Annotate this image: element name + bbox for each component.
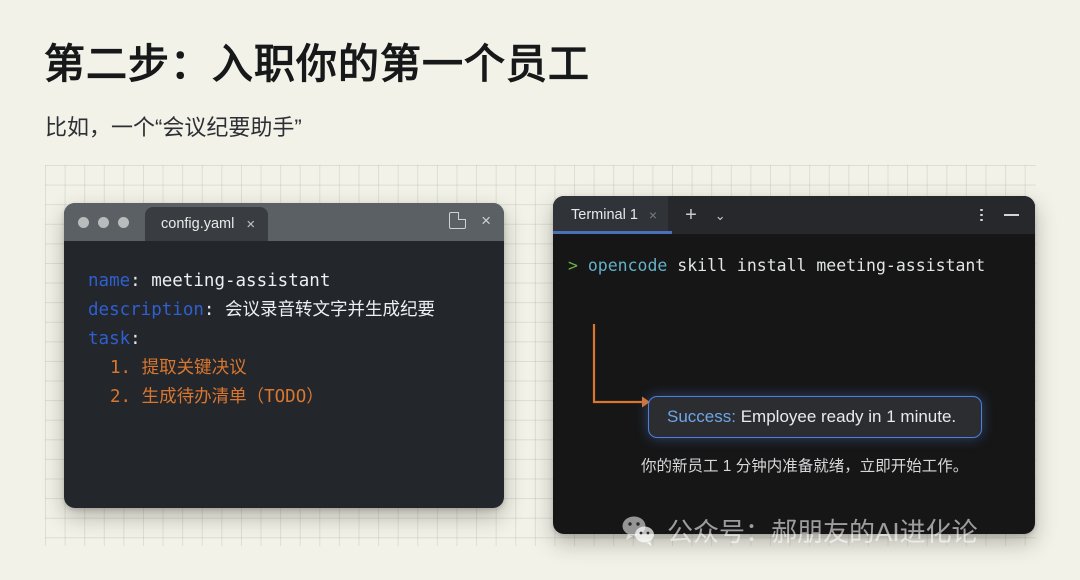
yaml-key: description xyxy=(88,300,204,320)
split-window-icon[interactable] xyxy=(449,212,466,229)
page-title: 第二步：入职你的第一个员工 xyxy=(44,30,590,90)
terminal-note-text: 你的新员工 1 分钟内准备就绪，立即开始工作。 xyxy=(641,454,968,476)
more-vertical-icon[interactable] xyxy=(980,209,983,222)
command-program: opencode xyxy=(588,256,667,275)
success-text: Success: Employee ready in 1 minute. xyxy=(667,407,956,427)
yaml-colon: : xyxy=(204,300,215,320)
yaml-value: meeting-assistant xyxy=(141,271,331,291)
yaml-colon: : xyxy=(130,271,141,291)
yaml-key: task xyxy=(88,329,130,349)
terminal-window: Terminal 1 × + ⌄ > opencode skill instal… xyxy=(553,196,1035,534)
editor-tab-config-yaml[interactable]: config.yaml × xyxy=(145,207,268,241)
code-line-task-item: 1. 提取关键决议 xyxy=(88,354,504,383)
prompt-caret-icon: > xyxy=(568,256,578,275)
success-callout-box: Success: Employee ready in 1 minute. xyxy=(648,396,982,438)
success-message: Employee ready in 1 minute. xyxy=(736,407,956,426)
editor-tab-label: config.yaml xyxy=(161,216,234,232)
minimize-dot-icon[interactable] xyxy=(98,217,109,228)
success-label: Success: xyxy=(667,407,736,426)
close-icon[interactable]: × xyxy=(246,217,255,232)
close-dot-icon[interactable] xyxy=(78,217,89,228)
terminal-output-area[interactable]: > opencode skill install meeting-assista… xyxy=(553,234,1035,534)
plus-icon[interactable]: + xyxy=(685,205,697,225)
traffic-light-group xyxy=(78,217,129,228)
editor-titlebar: config.yaml × × xyxy=(64,203,504,241)
code-line: name: meeting-assistant xyxy=(88,267,504,296)
yaml-colon: : xyxy=(130,329,141,349)
yaml-code-area[interactable]: name: meeting-assistant description: 会议录… xyxy=(64,241,504,412)
maximize-dot-icon[interactable] xyxy=(118,217,129,228)
editor-window-actions: × xyxy=(449,212,491,229)
close-icon[interactable]: × xyxy=(649,208,657,222)
code-line: description: 会议录音转文字并生成纪要 xyxy=(88,296,504,325)
code-line: task: xyxy=(88,325,504,354)
command-arguments: skill install meeting-assistant xyxy=(667,256,985,275)
terminal-window-actions xyxy=(980,196,1019,234)
terminal-command-line: > opencode skill install meeting-assista… xyxy=(568,256,985,275)
close-icon[interactable]: × xyxy=(481,212,491,229)
terminal-titlebar: Terminal 1 × + ⌄ xyxy=(553,196,1035,234)
chevron-down-icon[interactable]: ⌄ xyxy=(715,209,726,222)
terminal-tab-terminal-1[interactable]: Terminal 1 × xyxy=(553,196,668,234)
yaml-value: 会议录音转文字并生成纪要 xyxy=(214,300,435,320)
code-line-task-item: 2. 生成待办清单（TODO） xyxy=(88,383,504,412)
config-editor-window: config.yaml × × name: meeting-assistant … xyxy=(64,203,504,508)
yaml-key: name xyxy=(88,271,130,291)
terminal-tab-label: Terminal 1 xyxy=(571,207,638,223)
page-subtitle: 比如，一个“会议纪要助手” xyxy=(45,110,302,142)
minimize-icon[interactable] xyxy=(1004,214,1019,216)
